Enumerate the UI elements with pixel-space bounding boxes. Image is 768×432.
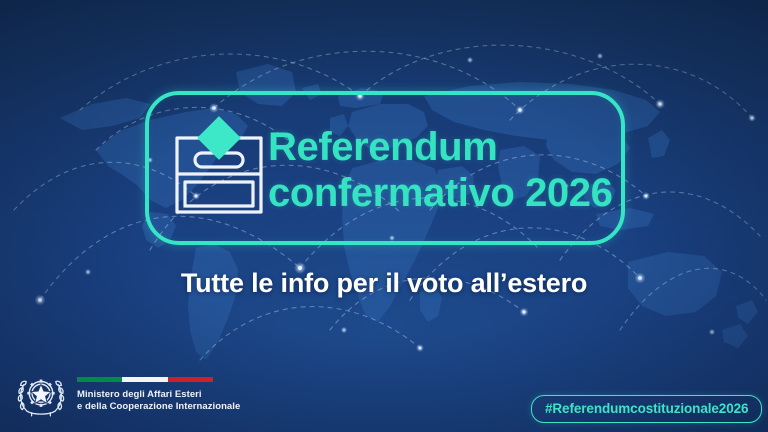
flag-stripe-red [168, 377, 213, 382]
italian-republic-emblem [16, 369, 66, 419]
subtitle-text: Tutte le info per il voto all’estero [0, 268, 768, 299]
ministry-lockup: Ministero degli Affari Esteri e della Co… [16, 369, 240, 419]
flag-stripe-green [77, 377, 122, 382]
italian-flag-bar [77, 377, 213, 382]
title-line-2: confermativo 2026 [268, 170, 618, 216]
hashtag-badge: #Referendumcostituzionale2026 [531, 395, 762, 423]
badge-title: Referendum confermativo 2026 [268, 124, 618, 216]
title-line-1: Referendum [268, 124, 618, 170]
flag-stripe-white [122, 377, 167, 382]
ministry-line-1: Ministero degli Affari Esteri [77, 389, 240, 402]
ministry-text-block: Ministero degli Affari Esteri e della Co… [77, 375, 240, 414]
poster-canvas: Referendum confermativo 2026 Tutte le in… [0, 0, 768, 432]
ministry-line-2: e della Cooperazione Internazionale [77, 401, 240, 414]
ballot-box-icon [171, 108, 267, 220]
